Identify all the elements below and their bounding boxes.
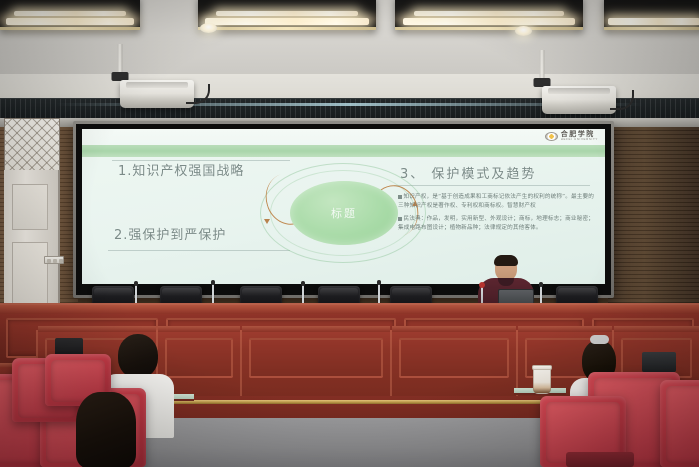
fluorescent-tube-icon xyxy=(205,18,369,25)
audience-head xyxy=(76,392,136,467)
projector-body xyxy=(542,86,616,114)
ceiling-light-trough xyxy=(395,0,583,30)
desk-panel xyxy=(249,338,383,378)
slide-center-label: 标题 xyxy=(331,205,357,221)
wood-panel-right xyxy=(608,118,699,308)
stage-table-top xyxy=(0,305,699,314)
hair-tie xyxy=(590,335,609,344)
heading-underline xyxy=(108,250,290,251)
bullet-marker-icon xyxy=(398,195,402,199)
heading-underline xyxy=(112,160,290,161)
slide-header: 合肥学院 HEFEI UNIVERSITY xyxy=(82,129,605,145)
audience-head xyxy=(118,334,158,378)
ceiling-light-trough xyxy=(0,0,140,30)
desk-panel xyxy=(399,338,509,378)
desk-top xyxy=(614,326,699,332)
audience-desk xyxy=(240,330,390,396)
trough-edge xyxy=(604,27,699,30)
bullet-text: 知识产权，是“基于创造成果和工商标记依法产生的权利的统称”。最主要的三种知识产权… xyxy=(398,194,594,209)
slide-bullet-list: 知识产权，是“基于创造成果和工商标记依法产生的权利的统称”。最主要的三种知识产权… xyxy=(398,193,594,237)
fluorescent-tube-icon xyxy=(414,11,564,16)
fluorescent-tube-icon xyxy=(403,18,576,25)
heading-underline xyxy=(394,185,590,186)
door-panel xyxy=(12,184,48,230)
downlight-icon xyxy=(515,26,532,36)
lattice-window xyxy=(4,118,60,172)
fluorescent-tube-icon xyxy=(14,11,126,16)
bullet-marker-icon xyxy=(398,217,402,221)
auditorium-seat[interactable] xyxy=(660,380,699,467)
projector-pole xyxy=(540,50,545,80)
cup-lid xyxy=(532,365,552,370)
desk-panel xyxy=(165,338,233,378)
fluorescent-tube-icon xyxy=(216,11,358,16)
monitor-back xyxy=(642,352,676,372)
trough-edge xyxy=(198,27,376,30)
door-panel xyxy=(12,242,48,312)
trough-edge xyxy=(395,27,583,30)
presenter-hair xyxy=(494,255,518,266)
slide-bullet-item: 知识产权，是“基于创造成果和工商标记依法产生的权利的统称”。最主要的三种知识产权… xyxy=(398,193,594,211)
desk-top xyxy=(392,326,516,332)
seat-armrest xyxy=(566,452,634,467)
ceiling-light-trough xyxy=(198,0,376,30)
fluorescent-tube-icon xyxy=(608,18,699,25)
projector-body xyxy=(120,80,194,108)
university-seal-icon xyxy=(545,132,558,141)
ceiling xyxy=(0,0,699,118)
projector-pole xyxy=(118,44,123,74)
logo-name-en: HEFEI UNIVERSITY xyxy=(561,138,598,141)
ceiling-light-trough xyxy=(604,0,699,30)
light-switch-panel[interactable] xyxy=(44,256,64,264)
slide-center-ellipse: 标题 xyxy=(290,181,398,245)
bubble-tea-cup[interactable] xyxy=(533,368,551,394)
lecture-hall-photo: 合肥学院 HEFEI UNIVERSITY 1.知识产权强国战略 2.强保护到严… xyxy=(0,0,699,467)
university-logo: 合肥学院 HEFEI UNIVERSITY xyxy=(545,131,598,141)
audience-member xyxy=(58,392,158,467)
slide-bullet-item: 民法典：作品，发明，实用新型、外观设计；商标，地理标志；商业秘密；集成电路布图设… xyxy=(398,215,594,233)
slide-heading-3: 3、 保护模式及趋势 xyxy=(400,163,536,182)
bullet-text: 民法典：作品，发明，实用新型、外观设计；商标，地理标志；商业秘密；集成电路布图设… xyxy=(398,216,594,231)
arrow-head-left-icon xyxy=(264,219,270,224)
desk-top xyxy=(158,326,240,332)
trough-edge xyxy=(0,27,140,30)
slide-heading-1: 1.知识产权强国战略 xyxy=(118,163,278,181)
downlight-icon xyxy=(200,23,217,33)
fluorescent-tube-icon xyxy=(6,18,135,25)
audience-desk xyxy=(390,330,516,396)
desk-top xyxy=(518,326,612,332)
desk-top xyxy=(38,326,156,332)
slide-accent-band xyxy=(82,145,605,157)
slide-heading-2: 2.强保护到严保护 xyxy=(114,227,289,245)
entry-door[interactable] xyxy=(4,170,60,325)
desk-top xyxy=(242,326,390,332)
